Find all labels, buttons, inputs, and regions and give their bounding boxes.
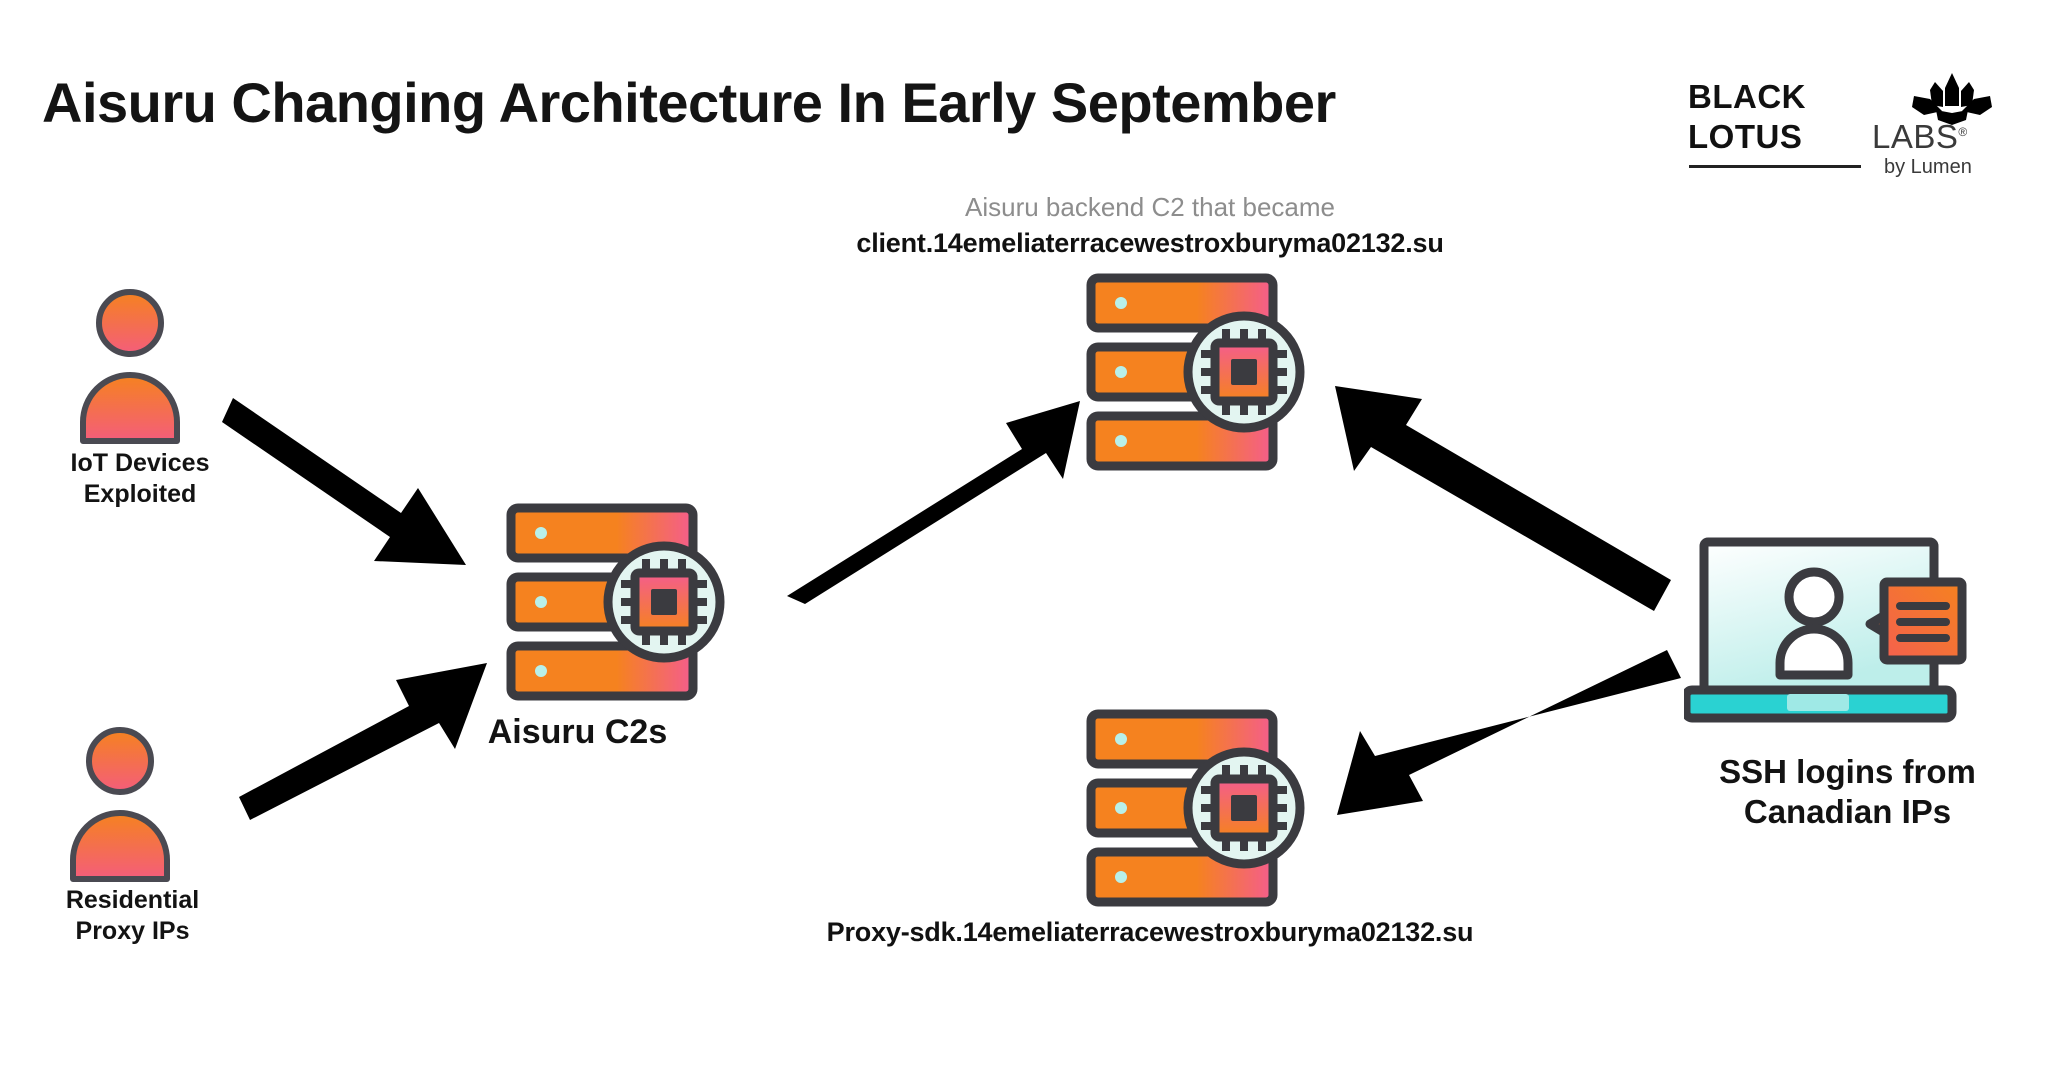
logo-divider-rule — [1689, 165, 1861, 168]
residential-proxy-node[interactable] — [60, 723, 180, 883]
black-lotus-labs-logo: BLACK LOTUS LABS® by Lumen — [1688, 72, 2018, 202]
logo-labs-text: LABS — [1872, 118, 1958, 155]
logo-line-black: BLACK — [1688, 80, 1806, 113]
laptop-user-chat-icon — [1684, 534, 2004, 734]
aisuru-c2s-label: Aisuru C2s — [400, 712, 755, 753]
server-stack-chip-icon — [505, 502, 765, 702]
ssh-logins-node[interactable] — [1684, 534, 2004, 734]
person-icon — [60, 723, 180, 883]
logo-line-lotus: LOTUS — [1688, 120, 1802, 153]
iot-devices-label: IoT Devices Exploited — [0, 448, 280, 509]
arrow-ssh-to-backend — [1335, 386, 1671, 611]
server-stack-chip-icon — [1085, 272, 1345, 472]
page-title: Aisuru Changing Architecture In Early Se… — [42, 70, 1336, 135]
registered-mark: ® — [1958, 125, 1967, 139]
backend-c2-node[interactable] — [1085, 272, 1345, 472]
backend-c2-sublabel: Aisuru backend C2 that became — [700, 192, 1600, 223]
iot-devices-node[interactable] — [70, 285, 190, 445]
proxy-sdk-c2-domain-label: Proxy-sdk.14emeliaterracewestroxburyma02… — [700, 917, 1600, 948]
proxy-sdk-c2-node[interactable] — [1085, 708, 1345, 908]
arrow-aisuru-to-backend — [787, 401, 1080, 604]
backend-c2-domain-label: client.14emeliaterracewestroxburyma02132… — [700, 228, 1600, 259]
server-stack-chip-icon — [1085, 708, 1345, 908]
person-icon — [70, 285, 190, 445]
logo-line-labs: LABS® — [1872, 120, 1968, 153]
arrow-ssh-to-proxysdk — [1337, 650, 1681, 815]
residential-proxy-label: Residential Proxy IPs — [0, 885, 265, 946]
aisuru-c2s-node[interactable] — [505, 502, 765, 702]
ssh-logins-label: SSH logins from Canadian IPs — [1640, 752, 2048, 833]
logo-byline: by Lumen — [1884, 157, 1972, 177]
diagram-canvas: Aisuru Changing Architecture In Early Se… — [0, 0, 2048, 1070]
